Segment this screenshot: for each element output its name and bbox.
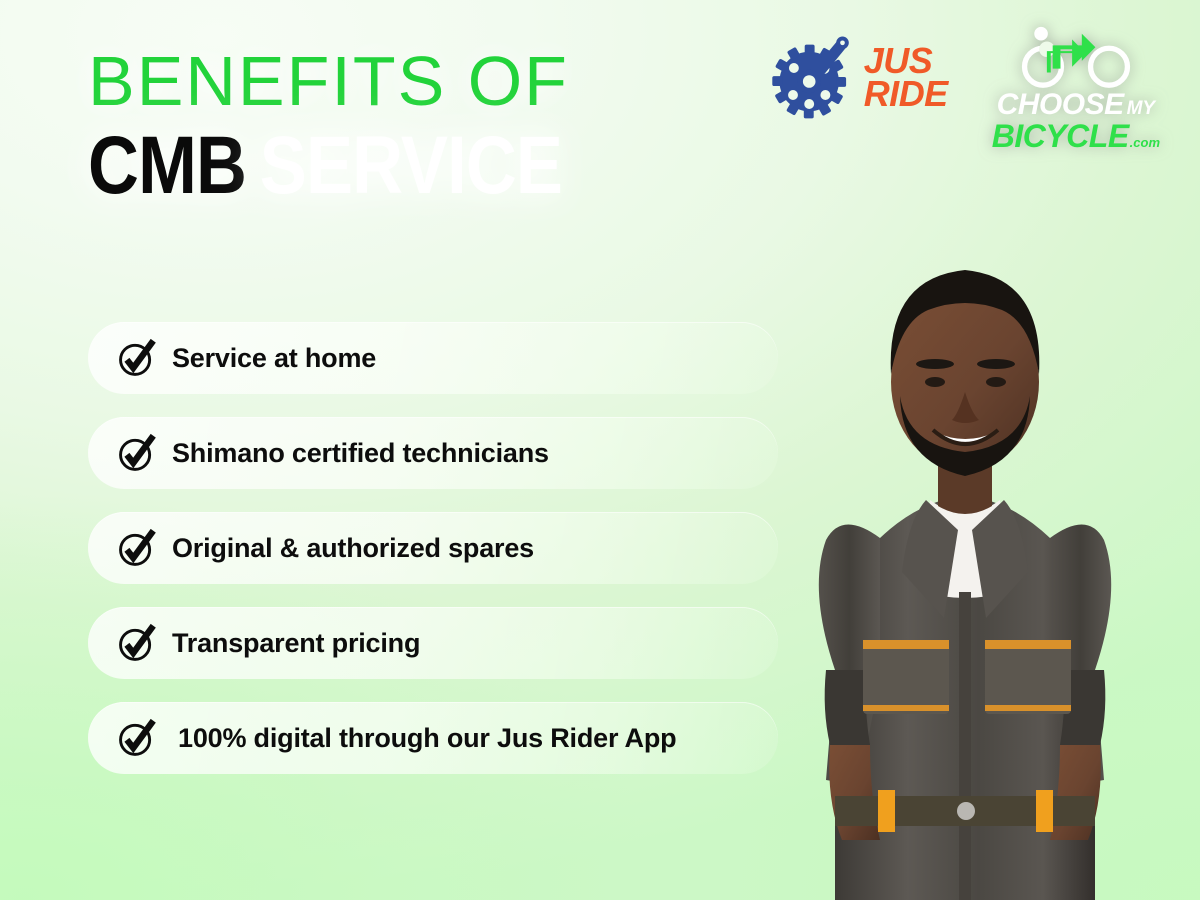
bicycle-arrow-icon [1017, 24, 1135, 90]
check-circle-icon [116, 623, 156, 663]
logo-row: JUS RIDE [766, 24, 1160, 155]
belt-snap [957, 802, 975, 820]
check-circle-icon [116, 718, 156, 758]
benefit-item-5[interactable]: 100% digital through our Jus Rider App [88, 702, 778, 774]
benefit-label: Transparent pricing [172, 628, 420, 659]
right-chest-pocket [985, 640, 1071, 714]
poster-canvas: BENEFITS OF CMBSERVICE [0, 0, 1200, 900]
left-eye [925, 377, 945, 387]
heading-block: BENEFITS OF CMBSERVICE [88, 48, 639, 207]
left-eyebrow [916, 359, 954, 369]
page-title-cmb: CMB [88, 120, 246, 211]
jus-ride-wordmark: JUS RIDE [864, 44, 948, 110]
rider-head-dot [1034, 27, 1048, 41]
cmb-wordmark-line2: BICYCLE .com [992, 118, 1160, 155]
check-circle-icon [116, 528, 156, 568]
check-circle-icon [116, 338, 156, 378]
benefit-label: Service at home [172, 343, 376, 374]
benefit-item-3[interactable]: Original & authorized spares [88, 512, 778, 584]
mechanic-figure [730, 200, 1200, 900]
cmb-word-my: MY [1127, 98, 1156, 120]
page-title-line2: CMBSERVICE [88, 125, 562, 207]
page-title-line1: BENEFITS OF [88, 48, 639, 115]
cmb-wordmark-line1: CHOOSE MY [997, 88, 1156, 122]
benefit-label: Original & authorized spares [172, 533, 534, 564]
left-chest-pocket [863, 640, 949, 714]
jus-ride-logo[interactable]: JUS RIDE [766, 24, 948, 122]
mechanic-person-image [730, 200, 1200, 900]
benefit-label: 100% digital through our Jus Rider App [178, 723, 676, 754]
right-eyebrow [977, 359, 1015, 369]
jus-ride-word-ride: RIDE [864, 77, 948, 110]
chainring-crank-icon [766, 32, 856, 122]
choose-my-bicycle-logo[interactable]: CHOOSE MY BICYCLE .com [992, 24, 1160, 155]
cmb-word-dotcom: .com [1130, 135, 1160, 150]
benefits-list: Service at home Shimano certified techni… [88, 322, 778, 774]
page-title-service: SERVICE [260, 120, 562, 211]
cmb-word-choose: CHOOSE [997, 88, 1124, 122]
benefit-item-4[interactable]: Transparent pricing [88, 607, 778, 679]
benefit-item-2[interactable]: Shimano certified technicians [88, 417, 778, 489]
benefit-item-1[interactable]: Service at home [88, 322, 778, 394]
benefit-label: Shimano certified technicians [172, 438, 549, 469]
belt-loop-right [1036, 790, 1053, 832]
check-circle-icon [116, 433, 156, 473]
belt-loop-left [878, 790, 895, 832]
cmb-word-bicycle: BICYCLE [992, 118, 1129, 155]
center-placket [959, 592, 971, 900]
right-eye [986, 377, 1006, 387]
